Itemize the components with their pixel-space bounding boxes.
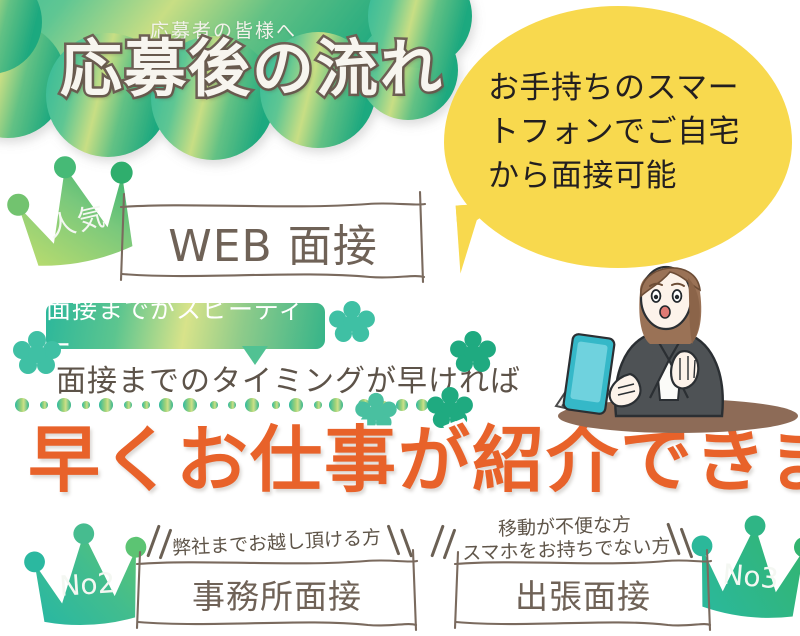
speech-bubble-smartphone: お手持ちのスマートフォンでご自宅から面接可能 bbox=[444, 6, 792, 268]
flower-icon bbox=[14, 330, 60, 374]
method-box-office-interview-label: 事務所面接 bbox=[134, 570, 420, 618]
method-box-web-interview-label: WEB 面接 bbox=[118, 210, 428, 274]
page-title: 応募後の流れ bbox=[60, 38, 444, 100]
slash-mark bbox=[146, 525, 160, 558]
flower-icon bbox=[330, 300, 374, 342]
infographic-canvas: 応募者の皆様へ 応募後の流れ お手持ちのスマートフォンでご自宅から面接可能 人気 bbox=[0, 0, 800, 636]
speech-bubble-text: お手持ちのスマートフォンでご自宅から面接可能 bbox=[488, 66, 766, 198]
slash-mark bbox=[443, 528, 457, 559]
slash-mark bbox=[159, 528, 173, 559]
slash-mark bbox=[400, 528, 413, 557]
tag-speedy-label: 面接までがスピーディー bbox=[46, 303, 325, 349]
method-box-visit-interview: 出張面接 bbox=[452, 556, 714, 628]
illustration-woman-web-interview bbox=[538, 248, 800, 438]
slash-mark bbox=[387, 524, 401, 555]
flower-icon bbox=[451, 330, 495, 372]
method-box-web-interview: WEB 面接 bbox=[118, 198, 428, 280]
method-box-office-interview: 事務所面接 bbox=[134, 556, 420, 628]
method-box-visit-interview-label: 出張面接 bbox=[452, 570, 714, 618]
caption-office-interview: 弊社までお越し頂ける方 bbox=[171, 523, 381, 561]
slash-mark bbox=[430, 525, 444, 558]
tag-speedy-interview: 面接までがスピーディー bbox=[46, 303, 325, 349]
crown-badge-no2: No2 bbox=[23, 524, 152, 636]
